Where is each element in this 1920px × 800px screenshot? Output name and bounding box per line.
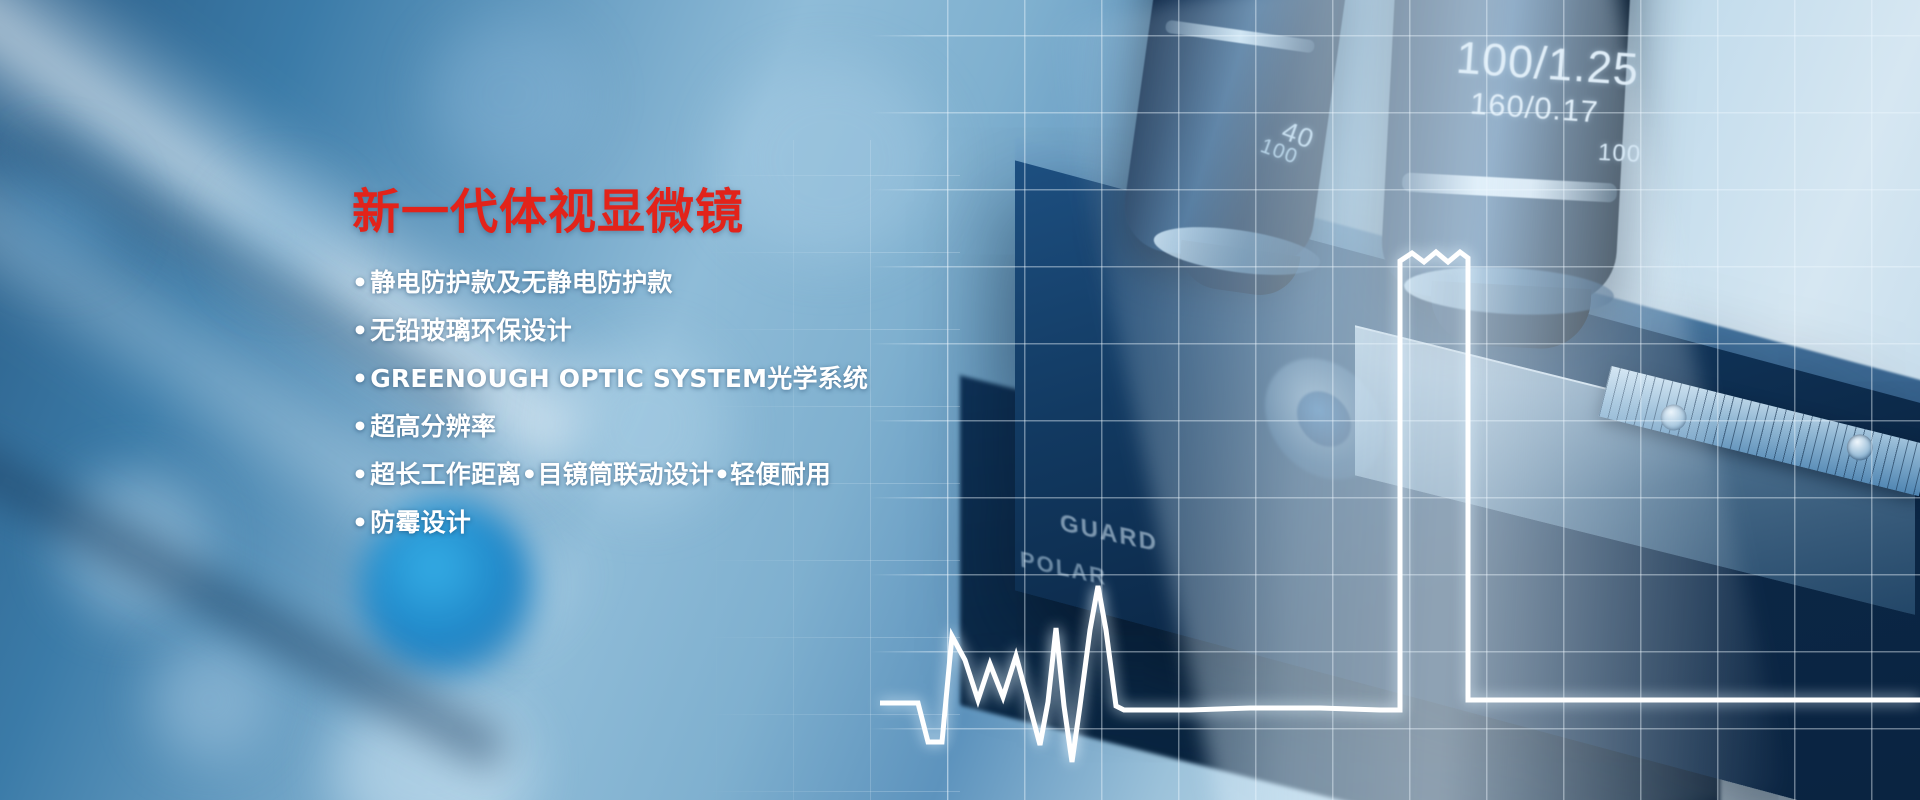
bullet-marker-icon: • (352, 412, 368, 441)
bullet-marker-icon: • (352, 316, 368, 345)
page-title: 新一代体视显微镜 (352, 188, 992, 236)
bullet-marker-icon: • (352, 268, 368, 297)
list-item-label: 静电防护款及无静电防护款 (370, 268, 672, 297)
list-item-label: 无铅玻璃环保设计 (370, 316, 572, 345)
bullet-marker-icon: • (352, 364, 368, 393)
list-item-label: 超高分辨率 (370, 412, 496, 441)
measurement-grid (870, 0, 1920, 800)
list-item: •超高分辨率 (352, 414, 992, 439)
list-item: •防霉设计 (352, 510, 992, 535)
feature-list: •静电防护款及无静电防护款 •无铅玻璃环保设计 •GREENOUGH OPTIC… (352, 270, 992, 535)
list-item: •无铅玻璃环保设计 (352, 318, 992, 343)
banner-copy: 新一代体视显微镜 •静电防护款及无静电防护款 •无铅玻璃环保设计 •GREENO… (352, 188, 992, 535)
list-item: •静电防护款及无静电防护款 (352, 270, 992, 295)
list-item: •超长工作距离•目镜筒联动设计•轻便耐用 (352, 462, 992, 487)
list-item-label: 超长工作距离•目镜筒联动设计•轻便耐用 (370, 460, 831, 489)
bullet-marker-icon: • (352, 460, 368, 489)
bokeh-orb-8 (430, 20, 590, 170)
hero-banner: GUARD POLAR 100/1.25 160/0.17 40 100 100… (0, 0, 1920, 800)
bullet-marker-icon: • (352, 508, 368, 537)
list-item-label: 防霉设计 (370, 508, 471, 537)
list-item: •GREENOUGH OPTIC SYSTEM光学系统 (352, 366, 992, 391)
list-item-label: GREENOUGH OPTIC SYSTEM光学系统 (370, 364, 868, 393)
bokeh-orb-2 (150, 640, 270, 760)
